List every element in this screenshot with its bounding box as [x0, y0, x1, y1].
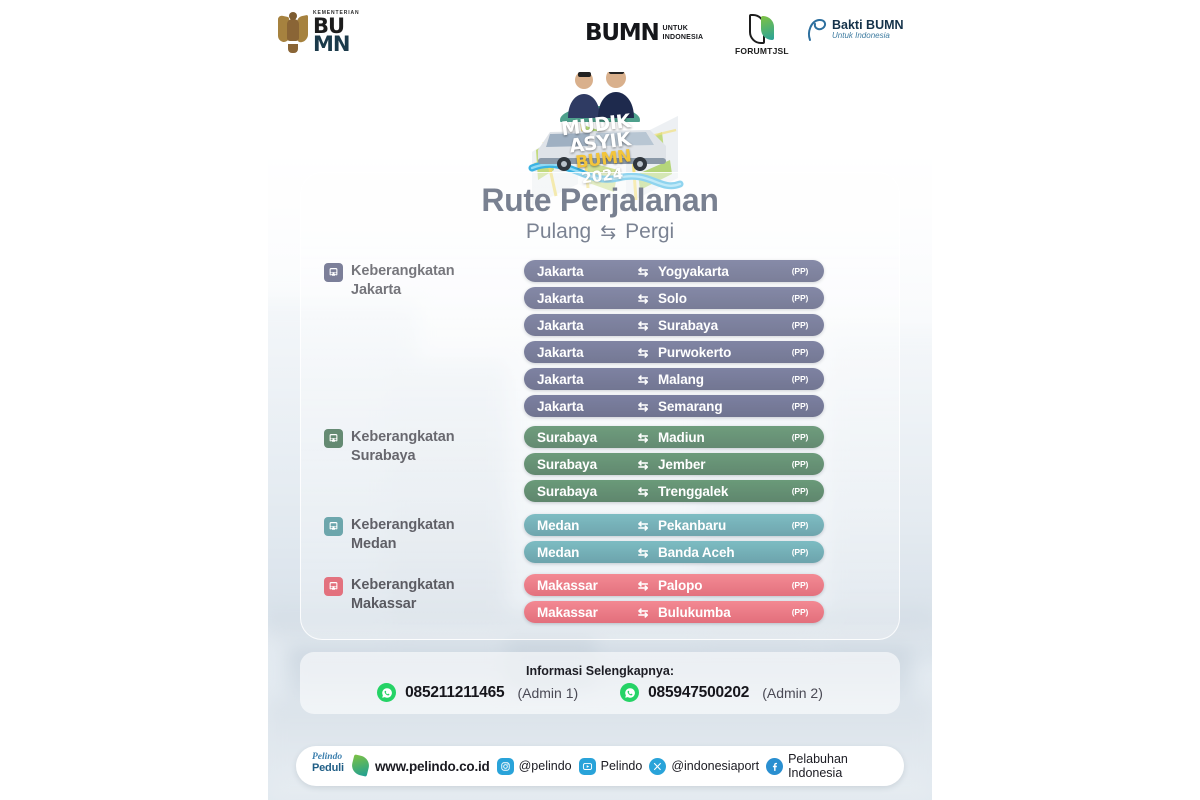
mudik-asyik-bumn-2024-badge: MUDIK ASYIK BUMN 2024	[520, 66, 680, 176]
contact-item[interactable]: 085211211465(Admin 1)	[377, 683, 578, 702]
bumn-sub-1: UNTUK	[663, 25, 704, 33]
social-link[interactable]: @pelindo	[497, 758, 572, 775]
instagram-icon	[497, 758, 514, 775]
kementerian-bumn-logo: KEMENTERIAN BU MN	[278, 10, 360, 54]
contact-label: (Admin 2)	[762, 685, 823, 701]
contact-number: 085947500202	[648, 684, 749, 702]
forum-tjsl-logo: FORUMTJSL	[735, 14, 789, 56]
bakti-swirl-icon	[806, 18, 828, 42]
social-handle: Pelindo	[601, 759, 643, 773]
kbumn-word2: MN	[313, 35, 360, 53]
bakti-bumn-logo: Bakti BUMN Untuk Indonesia	[806, 18, 904, 42]
partner-logo-bar: KEMENTERIAN BU MN BUMN UNTUK INDONESIA F…	[0, 0, 1200, 72]
social-link[interactable]: Pelindo	[579, 758, 643, 775]
whatsapp-icon	[377, 683, 396, 702]
bakti-line2: Untuk Indonesia	[832, 32, 904, 40]
poster-canvas: MUDIK ASYIK BUMN 2024 Rute Perjalanan Pu…	[0, 0, 1200, 800]
forum-leaf-icon	[749, 14, 775, 44]
social-handle: @pelindo	[519, 759, 572, 773]
contact-number: 085211211465	[405, 684, 504, 702]
youtube-icon	[579, 758, 596, 775]
social-handle: Pelabuhan Indonesia	[788, 752, 904, 780]
info-title: Informasi Selengkapnya:	[526, 664, 674, 678]
poster: MUDIK ASYIK BUMN 2024 Rute Perjalanan Pu…	[268, 0, 932, 800]
whatsapp-icon	[620, 683, 639, 702]
contact-item[interactable]: 085947500202(Admin 2)	[620, 683, 823, 702]
social-footer-bar: Pelindo Peduli www.pelindo.co.id @pelind…	[296, 746, 904, 786]
facebook-icon	[766, 758, 783, 775]
website-link[interactable]: www.pelindo.co.id	[375, 759, 490, 774]
garuda-emblem-icon	[278, 10, 308, 54]
x-twitter-icon	[649, 758, 666, 775]
social-handle: @indonesiaport	[671, 759, 759, 773]
social-links: @pelindoPelindo@indonesiaportPelabuhan I…	[497, 752, 904, 780]
bumn-sub-2: INDONESIA	[663, 34, 704, 42]
bumn-wordmark: BUMN	[585, 22, 659, 45]
bumn-untuk-indonesia-logo: BUMN UNTUK INDONESIA	[585, 22, 703, 45]
contact-info-panel: Informasi Selengkapnya: 085211211465(Adm…	[300, 652, 900, 714]
routes-card	[300, 172, 900, 640]
social-link[interactable]: Pelabuhan Indonesia	[766, 752, 904, 780]
social-link[interactable]: @indonesiaport	[649, 758, 759, 775]
contact-label: (Admin 1)	[517, 685, 578, 701]
forum-text-light: FORUM	[735, 46, 767, 56]
contact-list: 085211211465(Admin 1)085947500202(Admin …	[377, 683, 823, 702]
pelindo-peduli-logo: Pelindo Peduli	[312, 753, 368, 779]
forum-text-bold: TJSL	[767, 46, 789, 56]
